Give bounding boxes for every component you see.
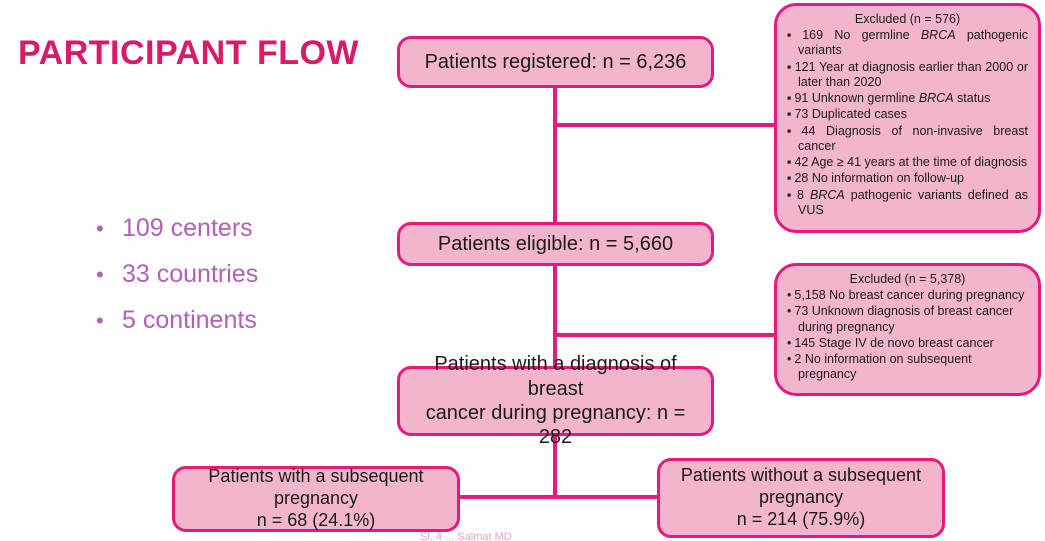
box-label: Patients with a subsequent pregnancy n =… [185, 466, 447, 532]
excluded-item: ▪121 Year at diagnosis earlier than 2000… [787, 60, 1028, 91]
box-excluded-second-step: Excluded (n = 5,378) •5,158 No breast ca… [774, 263, 1041, 396]
study-scope-list: • 109 centers • 33 countries • 5 contine… [96, 214, 376, 352]
box-label: Patients eligible: n = 5,660 [438, 232, 673, 256]
excluded-item: ▪8 BRCA pathogenic variants defined as V… [787, 188, 1028, 219]
bullet-icon: • [787, 336, 791, 350]
box-label: Patients registered: n = 6,236 [425, 50, 687, 74]
list-item: • 109 centers [96, 214, 376, 260]
list-item-label: 5 continents [122, 306, 257, 335]
excluded-item: •5,158 No breast cancer during pregnancy [787, 288, 1028, 303]
bullet-icon: ▪ [787, 60, 792, 74]
list-item: • 33 countries [96, 260, 376, 306]
excluded-item: ▪42 Age ≥ 41 years at the time of diagno… [787, 155, 1028, 170]
bullet-icon: ▪ [787, 107, 791, 121]
box-label: Patients without a subsequent pregnancy … [681, 465, 921, 531]
excluded-item-list: ▪169 No germline BRCA pathogenic variant… [787, 28, 1028, 218]
bullet-icon: • [787, 352, 791, 366]
connector-to-excluded-2 [553, 333, 775, 337]
page-title: PARTICIPANT FLOW [18, 34, 359, 73]
bullet-icon: • [96, 310, 122, 332]
box-with-subsequent-pregnancy: Patients with a subsequent pregnancy n =… [172, 466, 460, 532]
bullet-icon: ▪ [787, 155, 791, 169]
list-item-label: 109 centers [122, 214, 253, 243]
excluded-item: ▪73 Duplicated cases [787, 107, 1028, 122]
bullet-icon: ▪ [787, 28, 799, 42]
bullet-icon: ▪ [787, 91, 791, 105]
excluded-item: ▪44 Diagnosis of non-invasive breast can… [787, 124, 1028, 155]
box-without-subsequent-pregnancy: Patients without a subsequent pregnancy … [657, 458, 945, 538]
excluded-item: ▪91 Unknown germline BRCA status [787, 91, 1028, 106]
connector-to-excluded-1 [553, 123, 775, 127]
list-item: • 5 continents [96, 306, 376, 352]
box-patients-registered: Patients registered: n = 6,236 [397, 36, 714, 88]
footer-text-artifact: Sl. 4 ... Salmat MD [420, 531, 512, 541]
connector-registered-to-eligible [553, 88, 557, 228]
bullet-icon: ▪ [787, 188, 794, 202]
box-diagnosis-during-pregnancy: Patients with a diagnosis of breast canc… [397, 366, 714, 436]
list-item-label: 33 countries [122, 260, 258, 289]
excluded-item-list: •5,158 No breast cancer during pregnancy… [787, 288, 1028, 383]
participant-flow-diagram: PARTICIPANT FLOW • 109 centers • 33 coun… [0, 0, 1045, 541]
excluded-title: Excluded (n = 576) [787, 12, 1028, 26]
excluded-item: •73 Unknown diagnosis of breast cancer d… [787, 304, 1028, 335]
bullet-icon: • [787, 288, 791, 302]
excluded-item: •2 No information on subsequent pregnanc… [787, 352, 1028, 383]
bullet-icon: ▪ [787, 171, 791, 185]
box-patients-eligible: Patients eligible: n = 5,660 [397, 222, 714, 266]
bullet-icon: • [787, 304, 791, 318]
bullet-icon: ▪ [787, 124, 799, 138]
bullet-icon: • [96, 264, 122, 286]
excluded-item: ▪169 No germline BRCA pathogenic variant… [787, 28, 1028, 59]
bullet-icon: • [96, 218, 122, 240]
excluded-item: ▪28 No information on follow-up [787, 171, 1028, 186]
box-label: Patients with a diagnosis of breast canc… [410, 352, 701, 450]
excluded-title: Excluded (n = 5,378) [787, 272, 1028, 286]
box-excluded-first-step: Excluded (n = 576) ▪169 No germline BRCA… [774, 3, 1041, 233]
excluded-item: •145 Stage IV de novo breast cancer [787, 336, 1028, 351]
